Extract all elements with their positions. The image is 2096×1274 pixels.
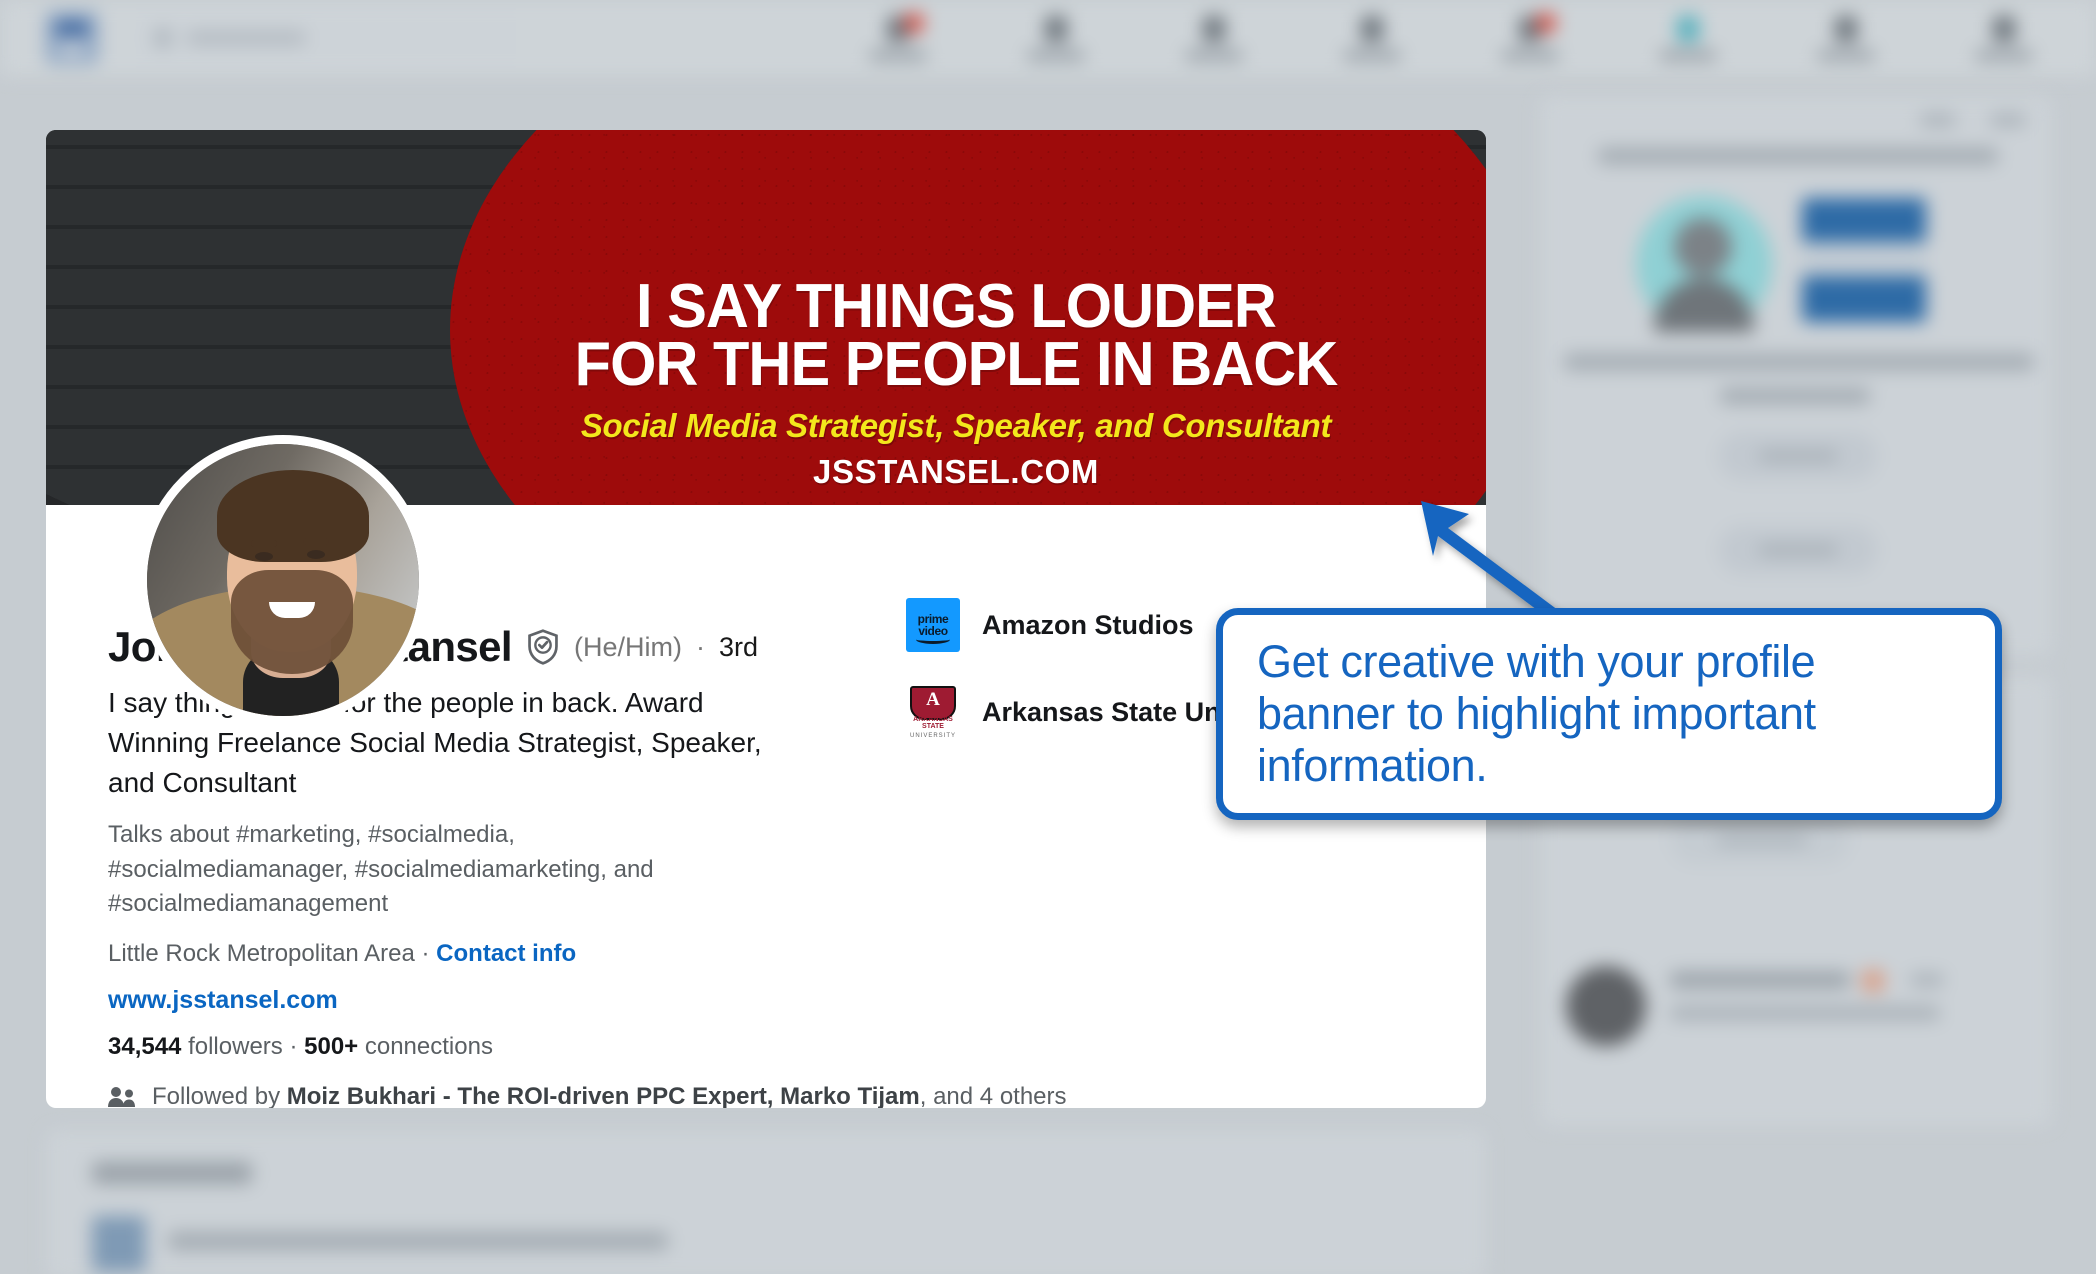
separator: · — [696, 632, 705, 663]
person-subtitle-1 — [1670, 1006, 1940, 1020]
home-badge — [904, 13, 924, 33]
pronouns: (He/Him) — [574, 632, 682, 663]
stats-row: 34,544 followers · 500+ connections — [108, 1033, 1486, 1061]
nav-item-my-network[interactable] — [1010, 16, 1102, 61]
followers-count: 34,544 — [108, 1033, 181, 1060]
followed-by-suffix: , and 4 others — [920, 1083, 1067, 1108]
location-row: Little Rock Metropolitan Area · Contact … — [108, 940, 1486, 968]
connections-count[interactable]: 500+ — [304, 1033, 358, 1060]
network-icon — [1045, 16, 1067, 42]
linkedin-profile-page: I SAY THINGS LOUDER FOR THE PEOPLE IN BA… — [0, 0, 2096, 1274]
promo-avatar — [1636, 196, 1772, 332]
verified-shield-icon — [526, 628, 560, 666]
nav-label-jobs — [1185, 50, 1243, 61]
search-input[interactable] — [136, 15, 516, 61]
nav-label-advertise — [1975, 50, 2033, 61]
banner-subtitle: Social Media Strategist, Speaker, and Co… — [476, 407, 1436, 445]
banner-line-2: FOR THE PEOPLE IN BACK — [495, 336, 1417, 394]
highlight-item-text — [168, 1232, 668, 1250]
connection-degree: 3rd — [719, 632, 758, 663]
nav-label-home — [869, 50, 927, 61]
linkedin-logo-icon[interactable] — [46, 12, 98, 64]
nav-item-advertise[interactable] — [1958, 16, 2050, 61]
nav-label-notifications — [1501, 50, 1559, 61]
top-navigation-bar — [0, 0, 2096, 76]
separator: · — [422, 940, 430, 967]
followed-by-prefix: Followed by — [152, 1083, 280, 1108]
nav-label-me — [1659, 50, 1717, 61]
asu-shield-icon — [910, 686, 956, 720]
followed-by-names[interactable]: Moiz Bukhari - The ROI-driven PPC Expert… — [287, 1083, 920, 1108]
highlights-section[interactable] — [46, 1130, 1486, 1274]
promo-follow-button[interactable] — [1718, 432, 1878, 480]
banner-text-block: I SAY THINGS LOUDER FOR THE PEOPLE IN BA… — [476, 130, 1436, 505]
jobs-icon — [1203, 16, 1225, 42]
promo-text-line-1 — [1564, 354, 2034, 370]
location-text: Little Rock Metropolitan Area — [108, 940, 415, 967]
nav-label-for-business — [1817, 50, 1875, 61]
avatar[interactable] — [138, 435, 428, 725]
connection-degree — [1910, 974, 1944, 986]
person-name — [1670, 972, 1850, 988]
search-placeholder — [186, 31, 306, 45]
people-icon — [108, 1086, 136, 1108]
sidebar-promo-card[interactable] — [1540, 96, 2052, 656]
promo-follow-button-2[interactable] — [1718, 526, 1878, 574]
asu-logo-line-2: UNIVERSITY — [906, 733, 960, 739]
followed-by-row: Followed by Moiz Bukhari - The ROI-drive… — [108, 1083, 1486, 1108]
banner-line-1: I SAY THINGS LOUDER — [495, 278, 1417, 336]
highlight-item-icon — [92, 1216, 146, 1272]
nav-items — [852, 16, 2050, 61]
separator: · — [289, 1033, 297, 1060]
promo-headline — [1598, 148, 1998, 164]
prime-video-logo-icon: prime video — [906, 598, 960, 652]
nav-item-for-business[interactable] — [1800, 16, 1892, 61]
highlights-title — [92, 1162, 252, 1184]
nav-item-jobs[interactable] — [1168, 16, 1260, 61]
search-icon — [154, 27, 172, 49]
contact-info-link[interactable]: Contact info — [436, 940, 576, 967]
followed-by-text: Followed by Moiz Bukhari - The ROI-drive… — [152, 1083, 1067, 1108]
website-link[interactable]: www.jsstansel.com — [108, 986, 1486, 1015]
advertise-icon — [1993, 16, 2015, 42]
profile-photo — [147, 444, 419, 716]
followers-label: followers — [188, 1033, 283, 1060]
avatar — [1566, 966, 1646, 1046]
promo-card-actions[interactable] — [1920, 114, 2026, 126]
nav-item-home[interactable] — [852, 16, 944, 61]
annotation-text: Get creative with your profile banner to… — [1223, 636, 1995, 793]
banner-url: JSSTANSEL.COM — [476, 453, 1436, 491]
promo-text-line-2 — [1720, 388, 1870, 404]
connections-label[interactable]: connections — [365, 1033, 493, 1060]
grid-icon — [1835, 16, 1857, 42]
amazon-smile-icon — [916, 635, 950, 644]
annotation-callout: Get creative with your profile banner to… — [1216, 608, 2002, 820]
notifications-badge — [1536, 13, 1556, 33]
avatar-icon — [1677, 16, 1699, 42]
nav-item-messaging[interactable] — [1326, 16, 1418, 61]
open-to-badge — [1862, 970, 1884, 992]
arkansas-state-logo-icon: ARKANSAS STATE UNIVERSITY — [906, 684, 960, 740]
affiliation-company-name: Amazon Studios — [982, 610, 1194, 641]
messaging-icon — [1361, 16, 1383, 42]
asu-logo-line-1: ARKANSAS STATE — [906, 716, 960, 730]
nav-item-notifications[interactable] — [1484, 16, 1576, 61]
talks-about: Talks about #marketing, #socialmedia, #s… — [108, 818, 728, 922]
nav-label-my-network — [1027, 50, 1085, 61]
nav-item-me[interactable] — [1642, 16, 1734, 61]
follow-button[interactable] — [1670, 816, 1850, 864]
promo-company-logo — [1802, 198, 1926, 322]
nav-label-messaging — [1343, 50, 1401, 61]
